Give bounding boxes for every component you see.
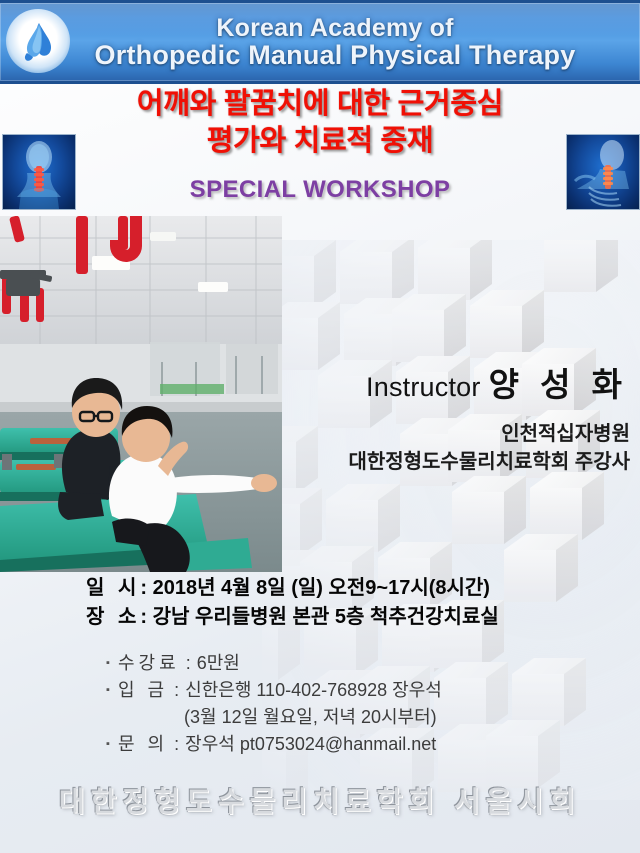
page-title: 어깨와 팔꿈치에 대한 근거중심 평가와 치료적 중재 [0,86,640,159]
instructor-affiliation: 인천적십자병원 대한정형도수물리치료학회 주강사 [250,420,630,477]
fee-label-contact: 문 의 [118,731,168,758]
header-banner: Korean Academy of Orthopedic Manual Phys… [0,0,640,84]
title-line-1: 어깨와 팔꿈치에 대한 근거중심 [0,86,640,123]
event-place-separator: : [140,606,147,628]
event-place-label: 장 소 [86,606,140,628]
event-date-value: 2018년 4월 8일 (일) 오전9~17시(8시간) [153,577,490,599]
event-date-label: 일 시 [86,577,140,599]
bullet-icon: ▪ [106,739,118,750]
instructor-label: Instructor [366,372,481,402]
event-details: 일 시: 2018년 4월 8일 (일) 오전9~17시(8시간) 장 소: 강… [86,574,499,632]
organization-footer: 대한정형도수물리치료학회 서울시회 [0,780,640,820]
header-line-2: Orthopedic Manual Physical Therapy [30,41,640,69]
fee-value-deposit: 신한은행 110-402-768928 장우석 [185,677,442,704]
event-date-row: 일 시: 2018년 4월 8일 (일) 오전9~17시(8시간) [86,574,499,603]
instructor-name: 양 성 화 [489,366,628,403]
fee-separator: : [174,731,179,758]
fee-details: ▪ 수강료 : 6만원 ▪ 입 금 : 신한은행 110-402-768928 … [106,650,442,758]
bullet-icon: ▪ [106,658,118,669]
subtitle: SPECIAL WORKSHOP [0,176,640,204]
fee-row-deposit: ▪ 입 금 : 신한은행 110-402-768928 장우석 [106,677,442,704]
fee-label-tuition: 수강료 [118,650,180,677]
fee-deposit-note: (3월 12일 월요일, 저녁 20시부터) [106,704,442,731]
event-place-row: 장 소: 강남 우리들병원 본관 5층 척추건강치료실 [86,603,499,632]
bullet-icon: ▪ [106,685,118,696]
fee-row-tuition: ▪ 수강료 : 6만원 [106,650,442,677]
fee-separator: : [186,650,191,677]
header-title-block: Korean Academy of Orthopedic Manual Phys… [0,15,640,69]
manual-therapy-session-photo [0,216,282,572]
fee-separator: : [174,677,179,704]
fee-value-tuition: 6만원 [197,650,240,677]
fee-label-deposit: 입 금 [118,677,168,704]
praying-hands-logo-icon [6,9,70,73]
fee-row-contact: ▪ 문 의 : 장우석 pt0753024@hanmail.net [106,731,442,758]
affiliation-line-1: 인천적십자병원 [250,420,630,448]
instructor-line: Instructor양 성 화 [300,358,628,406]
fee-value-contact: 장우석 pt0753024@hanmail.net [185,731,436,758]
event-date-separator: : [140,577,147,599]
poster-root: Korean Academy of Orthopedic Manual Phys… [0,0,640,853]
affiliation-line-2: 대한정형도수물리치료학회 주강사 [250,448,630,476]
header-line-1: Korean Academy of [30,15,640,41]
event-place-value: 강남 우리들병원 본관 5층 척추건강치료실 [153,606,499,628]
title-line-2: 평가와 치료적 중재 [0,123,640,160]
